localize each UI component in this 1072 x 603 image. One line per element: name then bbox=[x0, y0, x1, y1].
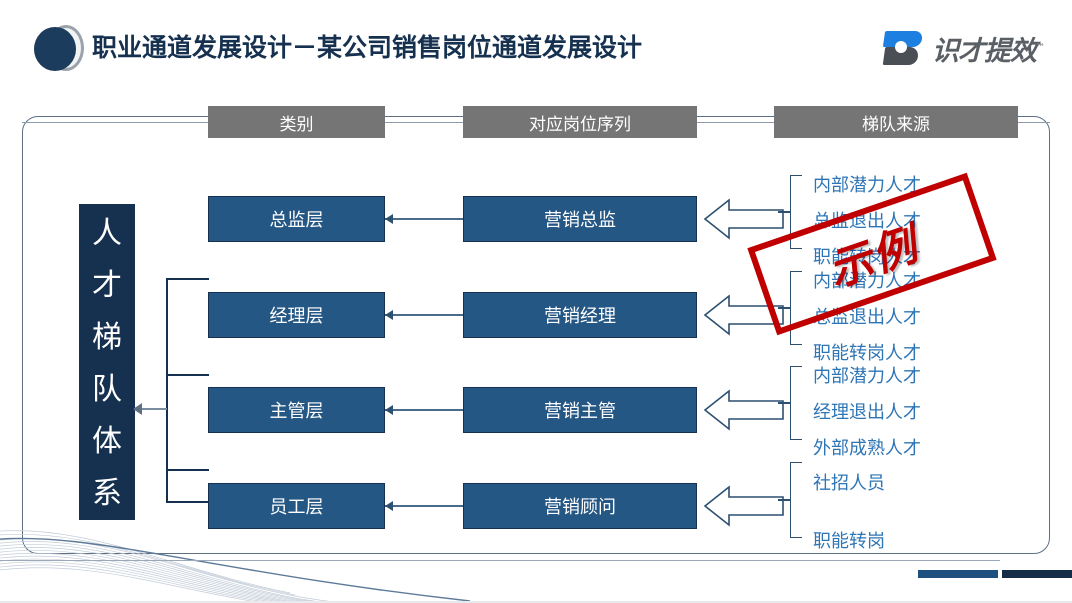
banner-char: 体 bbox=[79, 416, 135, 468]
source-block-arrow-icon bbox=[703, 197, 785, 241]
source-item: 社招人员 bbox=[813, 455, 885, 513]
column-link-line bbox=[385, 218, 463, 220]
footer-bar-accent-secondary bbox=[1002, 570, 1072, 578]
source-list-staff: 社招人员 职能转岗 bbox=[813, 455, 885, 571]
level-box-manager[interactable]: 经理层 bbox=[208, 292, 385, 338]
circles-logo-icon bbox=[34, 25, 86, 73]
position-box-marketing-consultant[interactable]: 营销顾问 bbox=[463, 483, 697, 529]
source-block-arrow-icon bbox=[703, 484, 785, 528]
source-bracket-stem bbox=[778, 499, 791, 501]
source-bracket-stem bbox=[778, 211, 791, 213]
banner-char: 系 bbox=[79, 468, 135, 520]
watermark-label: 示例 bbox=[818, 209, 926, 299]
header-connector-line bbox=[385, 122, 463, 123]
position-box-marketing-supervisor[interactable]: 营销主管 bbox=[463, 387, 697, 433]
slide-header: 职业通道发展设计－某公司销售岗位通道发展设计 识才提效™ bbox=[0, 0, 1072, 92]
source-item: 职能转岗 bbox=[813, 513, 885, 571]
source-block-arrow-icon bbox=[703, 388, 785, 432]
page-title: 职业通道发展设计－某公司销售岗位通道发展设计 bbox=[92, 28, 642, 64]
corp-logo-text: 识才提效 bbox=[932, 36, 1036, 67]
corp-logo-wordmark: 识才提效™ bbox=[932, 29, 1044, 68]
source-list-supervisor: 内部潜力人才 经理退出人才 外部成熟人才 bbox=[813, 359, 921, 467]
column-header-source: 梯队来源 bbox=[774, 106, 1018, 138]
level-box-supervisor[interactable]: 主管层 bbox=[208, 387, 385, 433]
source-item: 经理退出人才 bbox=[813, 395, 921, 431]
d-mark-hole-shape bbox=[895, 41, 907, 53]
column-header-category: 类别 bbox=[208, 106, 385, 138]
corp-logo: 识才提效™ bbox=[882, 28, 1044, 68]
banner-arrow-line bbox=[140, 408, 167, 410]
column-link-line bbox=[385, 314, 463, 316]
column-link-arrow-icon bbox=[385, 214, 393, 224]
banner-arrow-head-icon bbox=[133, 403, 142, 415]
banner-char: 队 bbox=[79, 364, 135, 416]
tree-branch-line bbox=[166, 501, 209, 503]
corp-d-mark-icon bbox=[882, 29, 924, 67]
footer-bar-accent-primary bbox=[918, 570, 998, 578]
logo-disc-shape bbox=[34, 27, 76, 71]
trademark-mark: ™ bbox=[1036, 43, 1044, 53]
banner-char: 才 bbox=[79, 260, 135, 312]
source-item: 内部潜力人才 bbox=[813, 359, 921, 395]
header-connector-line bbox=[22, 122, 208, 123]
header-connector-line bbox=[1018, 122, 1050, 123]
level-box-staff[interactable]: 员工层 bbox=[208, 483, 385, 529]
position-box-marketing-director[interactable]: 营销总监 bbox=[463, 196, 697, 242]
banner-char: 人 bbox=[79, 208, 135, 260]
header-connector-line bbox=[697, 122, 774, 123]
column-link-line bbox=[385, 505, 463, 507]
position-box-marketing-manager[interactable]: 营销经理 bbox=[463, 292, 697, 338]
column-link-arrow-icon bbox=[385, 501, 393, 511]
column-link-arrow-icon bbox=[385, 310, 393, 320]
tree-branch-line bbox=[166, 374, 209, 376]
source-bracket bbox=[790, 366, 802, 440]
source-bracket-stem bbox=[778, 402, 791, 404]
source-bracket bbox=[790, 462, 802, 538]
column-link-arrow-icon bbox=[385, 405, 393, 415]
tree-branch-line bbox=[166, 278, 209, 280]
talent-echelon-banner: 人 才 梯 队 体 系 bbox=[79, 204, 135, 520]
tree-branch-line bbox=[166, 469, 209, 471]
column-link-line bbox=[385, 409, 463, 411]
banner-char: 梯 bbox=[79, 312, 135, 364]
level-box-director[interactable]: 总监层 bbox=[208, 196, 385, 242]
footer-rule-line bbox=[0, 560, 1000, 561]
column-header-position: 对应岗位序列 bbox=[463, 106, 697, 138]
